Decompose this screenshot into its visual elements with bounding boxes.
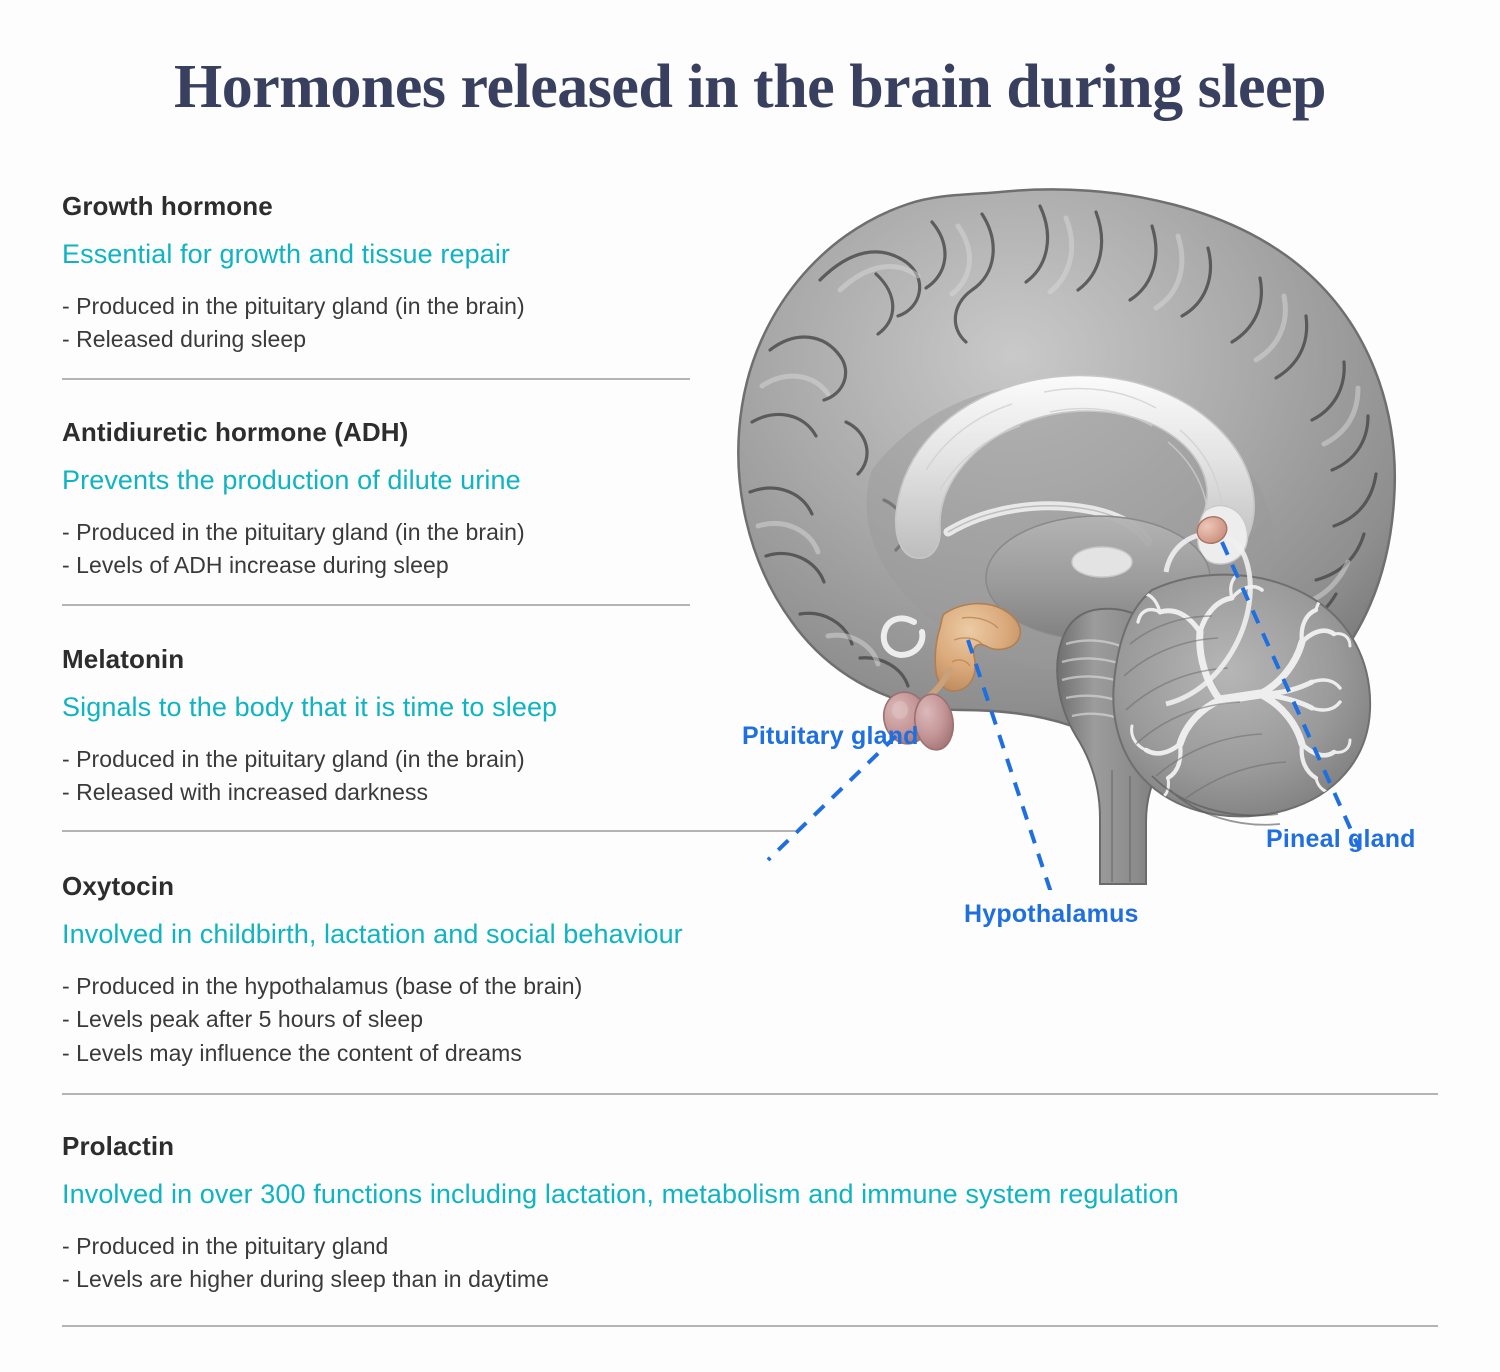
hormone-section-prolactin: Prolactin Involved in over 300 functions… [62,1132,1179,1297]
brain-diagram: Pituitary gland Hypothalamus Pineal glan… [700,170,1490,890]
hormone-name: Growth hormone [62,192,525,221]
list-item: - Produced in the pituitary gland [62,1230,1179,1264]
hormone-description: Essential for growth and tissue repair [62,239,525,270]
leader-line-pituitary [768,736,896,860]
hormone-fact-list: - Produced in the pituitary gland (in th… [62,516,525,583]
list-item: - Produced in the pituitary gland (in th… [62,743,557,777]
section-divider [62,1093,1438,1095]
hormone-name: Oxytocin [62,872,683,901]
hormone-section-melatonin: Melatonin Signals to the body that it is… [62,645,557,810]
page-title: Hormones released in the brain during sl… [0,52,1500,123]
hormone-section-oxytocin: Oxytocin Involved in childbirth, lactati… [62,872,683,1070]
list-item: - Levels are higher during sleep than in… [62,1263,1179,1297]
hormone-fact-list: - Produced in the hypothalamus (base of … [62,970,683,1071]
hormone-description: Involved in over 300 functions including… [62,1179,1179,1210]
list-item: - Levels peak after 5 hours of sleep [62,1003,683,1037]
hormone-description: Involved in childbirth, lactation and so… [62,919,683,950]
section-divider [62,830,795,832]
list-item: - Produced in the hypothalamus (base of … [62,970,683,1004]
list-item: - Levels may influence the content of dr… [62,1037,683,1071]
hormone-description: Signals to the body that it is time to s… [62,692,557,723]
hormone-fact-list: - Produced in the pituitary gland (in th… [62,290,525,357]
callout-label-pineal-gland: Pineal gland [1266,825,1416,854]
section-divider [62,1325,1438,1327]
infographic-page: Hormones released in the brain during sl… [0,0,1500,1372]
list-item: - Produced in the pituitary gland (in th… [62,290,525,324]
list-item: - Released during sleep [62,323,525,357]
list-item: - Released with increased darkness [62,776,557,810]
list-item: - Produced in the pituitary gland (in th… [62,516,525,550]
brain-sagittal-illustration [700,170,1490,890]
hormone-section-adh: Antidiuretic hormone (ADH) Prevents the … [62,418,525,583]
hormone-section-growth-hormone: Growth hormone Essential for growth and … [62,192,525,357]
hormone-name: Prolactin [62,1132,1179,1161]
list-item: - Levels of ADH increase during sleep [62,549,525,583]
hormone-description: Prevents the production of dilute urine [62,465,525,496]
hormone-name: Melatonin [62,645,557,674]
callout-label-pituitary-gland: Pituitary gland [742,722,919,751]
callout-label-hypothalamus: Hypothalamus [964,900,1139,929]
hormone-name: Antidiuretic hormone (ADH) [62,418,525,447]
section-divider [62,604,690,606]
section-divider [62,378,690,380]
hormone-fact-list: - Produced in the pituitary gland (in th… [62,743,557,810]
hormone-fact-list: - Produced in the pituitary gland - Leve… [62,1230,1179,1297]
